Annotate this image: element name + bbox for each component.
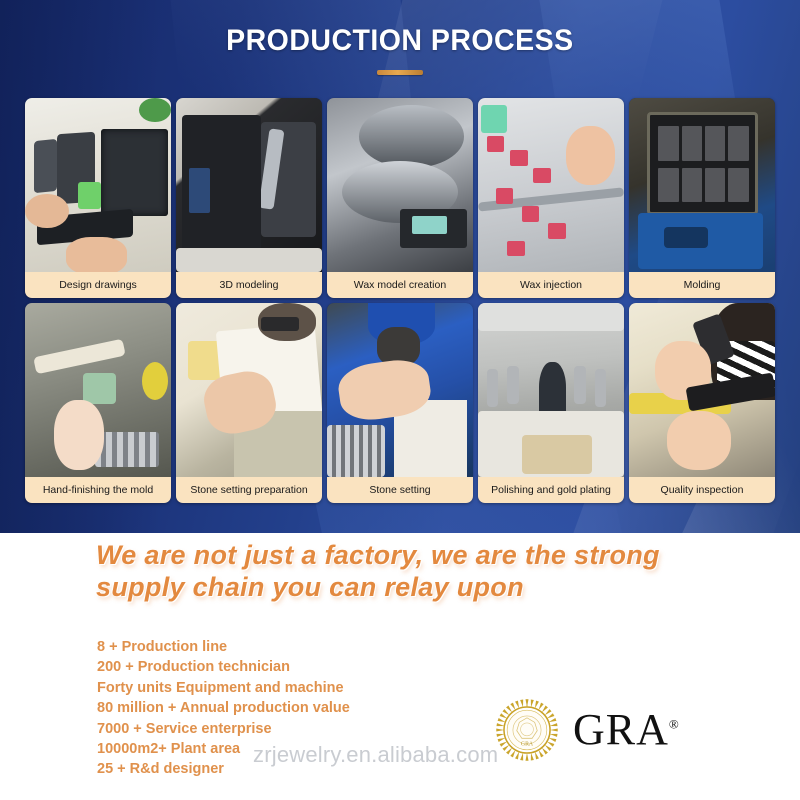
process-card-polishing-and-gold-plating[interactable]: Polishing and gold plating	[478, 303, 624, 503]
brand-name: GRA	[573, 705, 669, 754]
process-grid: Design drawings 3D modeling	[25, 98, 775, 503]
process-photo-wax-model-creation	[327, 98, 473, 272]
process-card-label: Molding	[629, 272, 775, 298]
promo-headline: We are not just a factory, we are the st…	[96, 540, 786, 604]
list-item: 200 + Production technician	[97, 657, 350, 677]
svg-text:GRA: GRA	[521, 741, 534, 747]
process-photo-hand-finishing-the-mold	[25, 303, 171, 477]
process-photo-molding	[629, 98, 775, 272]
brand-wordmark: GRA®	[573, 708, 680, 752]
promo-headline-line-1: We are not just a factory, we are the st…	[96, 540, 786, 572]
process-row: Design drawings 3D modeling	[25, 98, 775, 298]
title-divider	[377, 70, 423, 75]
process-card-molding[interactable]: Molding	[629, 98, 775, 298]
process-card-label: Hand-finishing the mold	[25, 477, 171, 503]
process-banner: PRODUCTION PROCESS Design drawings	[0, 0, 800, 533]
page-title: PRODUCTION PROCESS	[226, 24, 573, 58]
process-card-label: Wax model creation	[327, 272, 473, 298]
process-photo-polishing-and-gold-plating	[478, 303, 624, 477]
registered-mark: ®	[669, 716, 680, 731]
process-row: Hand-finishing the mold Stone setting pr…	[25, 303, 775, 503]
process-card-label: Quality inspection	[629, 477, 775, 503]
process-card-label: Wax injection	[478, 272, 624, 298]
list-item: 8 + Production line	[97, 637, 350, 657]
process-photo-stone-setting-preparation	[176, 303, 322, 477]
brand-logo: GRA GRA®	[495, 698, 680, 762]
process-card-label: 3D modeling	[176, 272, 322, 298]
site-watermark: zrjewelry.en.alibaba.com	[253, 742, 498, 768]
list-item: Forty units Equipment and machine	[97, 678, 350, 698]
process-card-label: Design drawings	[25, 272, 171, 298]
list-item: 7000 + Service enterprise	[97, 719, 350, 739]
list-item: 80 million + Annual production value	[97, 698, 350, 718]
process-photo-stone-setting	[327, 303, 473, 477]
process-card-wax-injection[interactable]: Wax injection	[478, 98, 624, 298]
process-card-stone-setting[interactable]: Stone setting	[327, 303, 473, 503]
process-photo-design-drawings	[25, 98, 171, 272]
process-card-wax-model-creation[interactable]: Wax model creation	[327, 98, 473, 298]
process-card-label: Stone setting	[327, 477, 473, 503]
process-photo-quality-inspection	[629, 303, 775, 477]
gra-seal-icon: GRA	[495, 698, 559, 762]
process-card-design-drawings[interactable]: Design drawings	[25, 98, 171, 298]
process-card-quality-inspection[interactable]: Quality inspection	[629, 303, 775, 503]
page-title-wrap: PRODUCTION PROCESS	[0, 24, 800, 58]
process-photo-wax-injection	[478, 98, 624, 272]
process-card-3d-modeling[interactable]: 3D modeling	[176, 98, 322, 298]
promo-headline-line-2: supply chain you can relay upon	[96, 572, 786, 604]
process-card-label: Polishing and gold plating	[478, 477, 624, 503]
product-detail-page: PRODUCTION PROCESS Design drawings	[0, 0, 800, 800]
process-card-stone-setting-preparation[interactable]: Stone setting preparation	[176, 303, 322, 503]
process-card-hand-finishing-the-mold[interactable]: Hand-finishing the mold	[25, 303, 171, 503]
process-photo-3d-modeling	[176, 98, 322, 272]
process-card-label: Stone setting preparation	[176, 477, 322, 503]
